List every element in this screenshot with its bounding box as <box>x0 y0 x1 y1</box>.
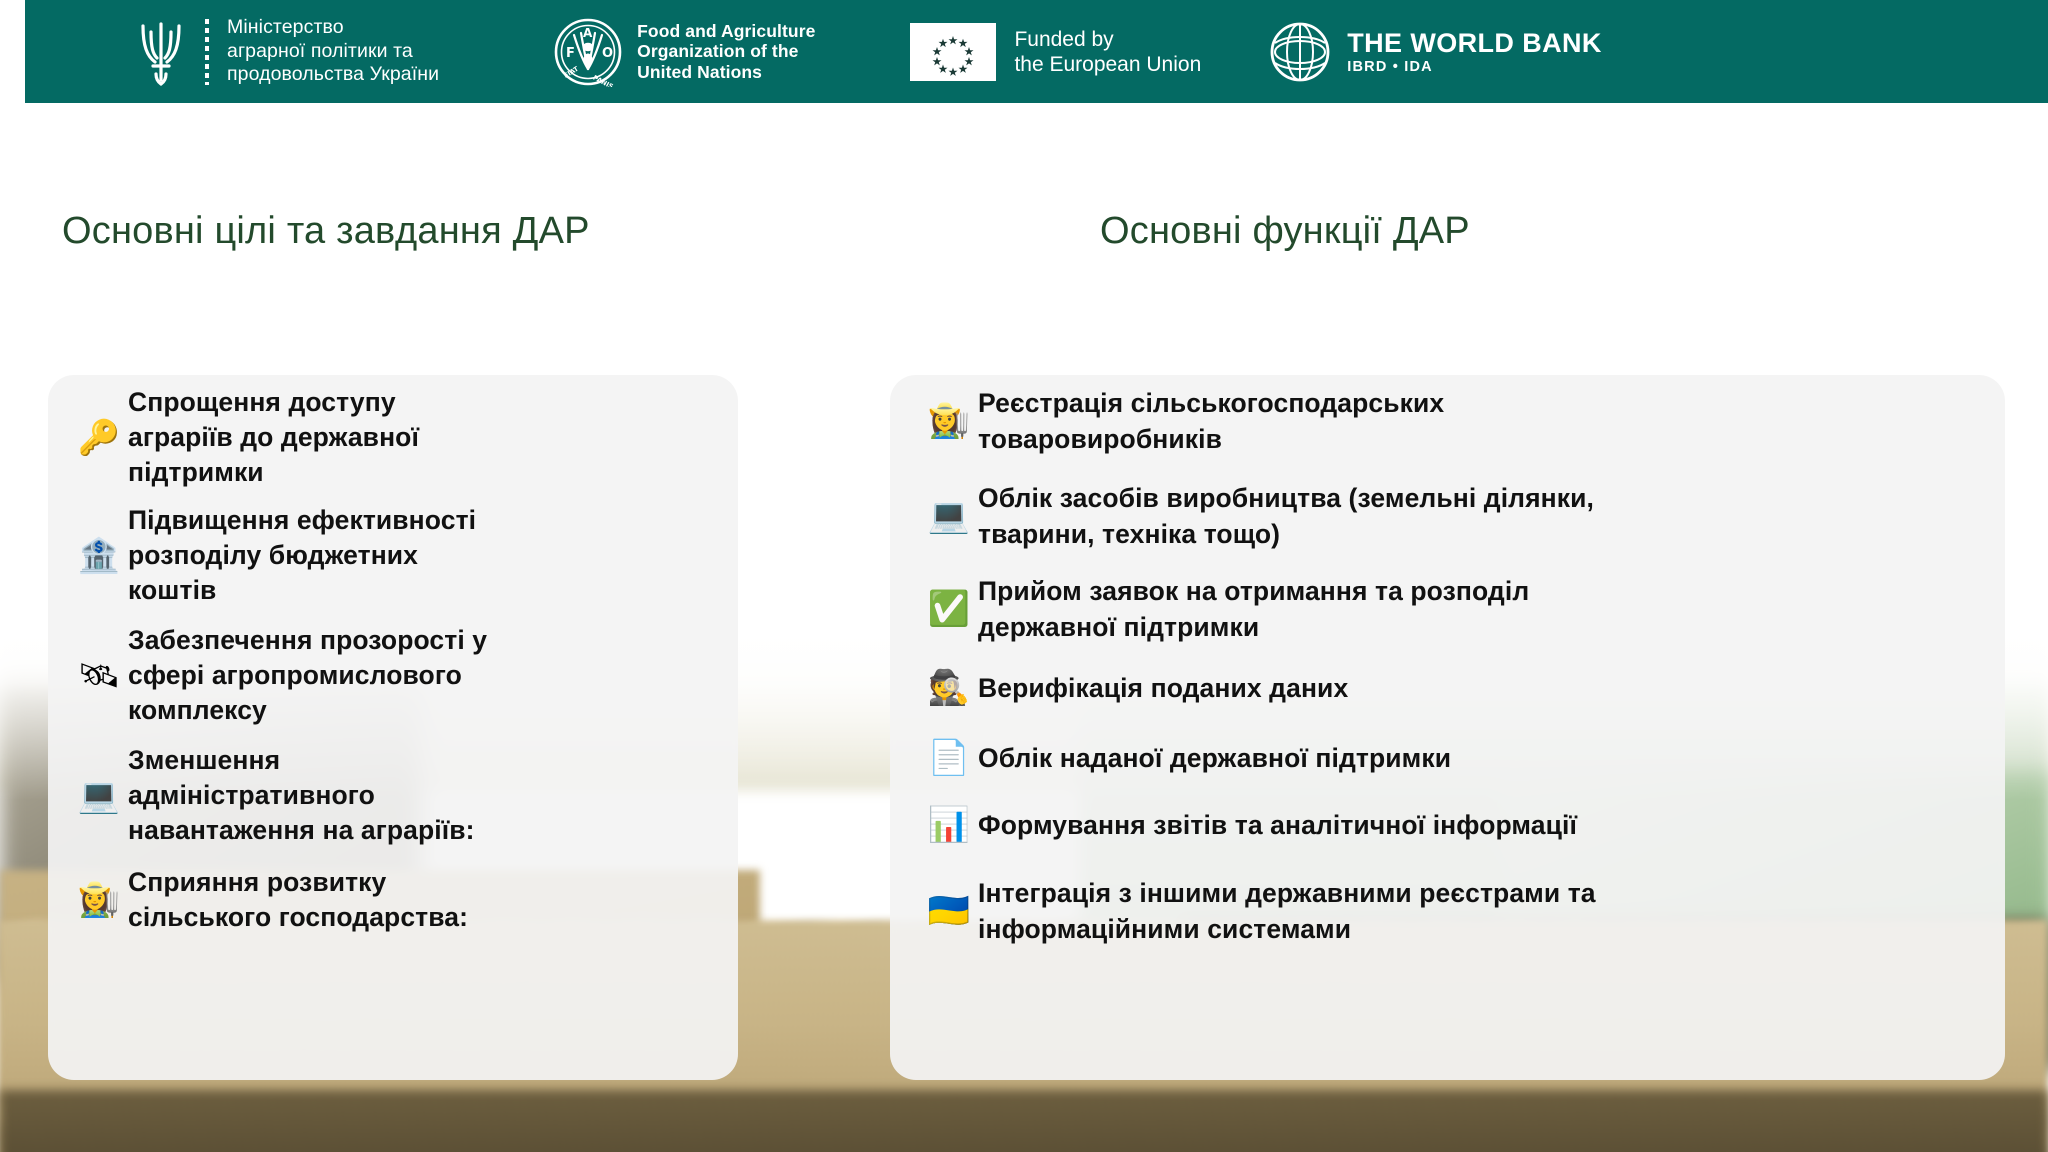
world-bank-logo-block: THE WORLD BANK IBRD • IDA <box>1269 0 1602 103</box>
list-item-text: Інтеграція з іншими державними реєстрами… <box>978 875 1596 947</box>
fao-name-text: Food and Agriculture Organization of the… <box>637 21 815 83</box>
right-column-heading: Основні функції ДАР <box>1100 210 1470 253</box>
list-item: 🔑 Спрощення доступу аграріїв до державно… <box>70 385 720 490</box>
svg-text:FIAT: FIAT <box>562 64 580 79</box>
list-item-text: Зменшення адміністративного навантаження… <box>128 743 475 848</box>
list-item-text: Верифікація поданих даних <box>978 670 1348 706</box>
list-item: 📄 Облік наданої державної підтримки <box>920 740 1990 776</box>
list-item-text: Облік наданої державної підтримки <box>978 740 1451 776</box>
world-bank-subtitle: IBRD • IDA <box>1347 58 1602 76</box>
eu-funding-text: Funded by the European Union <box>1014 27 1201 77</box>
list-item: 🕵 Верифікація поданих даних <box>920 670 1990 706</box>
world-bank-title: THE WORLD BANK <box>1347 28 1602 58</box>
farmer-icon: 👩‍🌾 <box>920 404 978 438</box>
svg-text:A: A <box>583 26 593 40</box>
list-item-text: Реєстрація сільськогосподарських товаров… <box>978 385 1444 457</box>
list-item: 👩‍🌾 Сприяння розвитку сільського господа… <box>70 865 720 935</box>
satellite-icon: 🛰 <box>70 659 128 693</box>
eu-logo-block: Funded by the European Union <box>910 0 1201 103</box>
ukraine-trident-icon <box>135 16 187 88</box>
svg-text:O: O <box>602 46 613 61</box>
page-icon: 📄 <box>920 741 978 775</box>
fao-emblem-icon: F O A FIAT PANIS <box>553 17 623 87</box>
farmer-icon: 👩‍🌾 <box>70 883 128 917</box>
list-item: 🏦 Підвищення ефективності розподілу бюдж… <box>70 503 720 608</box>
ministry-name-text: Міністерство аграрної політики та продов… <box>227 16 439 87</box>
svg-text:F: F <box>566 46 575 61</box>
key-icon: 🔑 <box>70 421 128 455</box>
goals-card: 🔑 Спрощення доступу аграріїв до державно… <box>48 375 738 1080</box>
list-item: 👩‍🌾 Реєстрація сільськогосподарських тов… <box>920 385 1990 457</box>
list-item: 🇺🇦 Інтеграція з іншими державними реєстр… <box>920 875 1990 947</box>
ukraine-flag-icon: 🇺🇦 <box>920 894 978 928</box>
partner-logo-banner: Міністерство аграрної політики та продов… <box>25 0 2048 103</box>
functions-card: 👩‍🌾 Реєстрація сільськогосподарських тов… <box>890 375 2005 1080</box>
list-item: 💻 Облік засобів виробництва (земельні ді… <box>920 480 1990 552</box>
ministry-logo-block: Міністерство аграрної політики та продов… <box>135 0 439 103</box>
check-mark-icon: ✅ <box>920 592 978 626</box>
list-item-text: Підвищення ефективності розподілу бюджет… <box>128 503 476 608</box>
list-item-text: Сприяння розвитку сільського господарств… <box>128 865 468 935</box>
laptop-icon: 💻 <box>70 779 128 813</box>
detective-icon: 🕵 <box>920 671 978 705</box>
functions-list: 👩‍🌾 Реєстрація сільськогосподарських тов… <box>890 375 2005 1080</box>
list-item: ✅ Прийом заявок на отримання та розподіл… <box>920 573 1990 645</box>
bank-icon: 🏦 <box>70 539 128 573</box>
fao-logo-block: F O A FIAT PANIS Food and Agriculture Or… <box>553 0 815 103</box>
list-item: 📊 Формування звітів та аналітичної інфор… <box>920 807 1990 843</box>
list-item: 💻 Зменшення адміністративного навантажен… <box>70 743 720 848</box>
list-item-text: Прийом заявок на отримання та розподіл д… <box>978 573 1529 645</box>
world-bank-globe-icon <box>1269 21 1331 83</box>
background-soil <box>0 1090 2048 1152</box>
left-column-heading: Основні цілі та завдання ДАР <box>62 210 590 253</box>
list-item-text: Формування звітів та аналітичної інформа… <box>978 807 1577 843</box>
list-item-text: Облік засобів виробництва (земельні діля… <box>978 480 1594 552</box>
list-item-text: Спрощення доступу аграріїв до державної … <box>128 385 419 490</box>
logo-divider <box>205 19 209 85</box>
list-item-text: Забезпечення прозорості у сфері агропром… <box>128 623 487 728</box>
bar-chart-icon: 📊 <box>920 808 978 842</box>
eu-flag-icon <box>910 23 996 81</box>
list-item: 🛰 Забезпечення прозорості у сфері агропр… <box>70 623 720 728</box>
goals-list: 🔑 Спрощення доступу аграріїв до державно… <box>48 375 738 1080</box>
laptop-icon: 💻 <box>920 499 978 533</box>
